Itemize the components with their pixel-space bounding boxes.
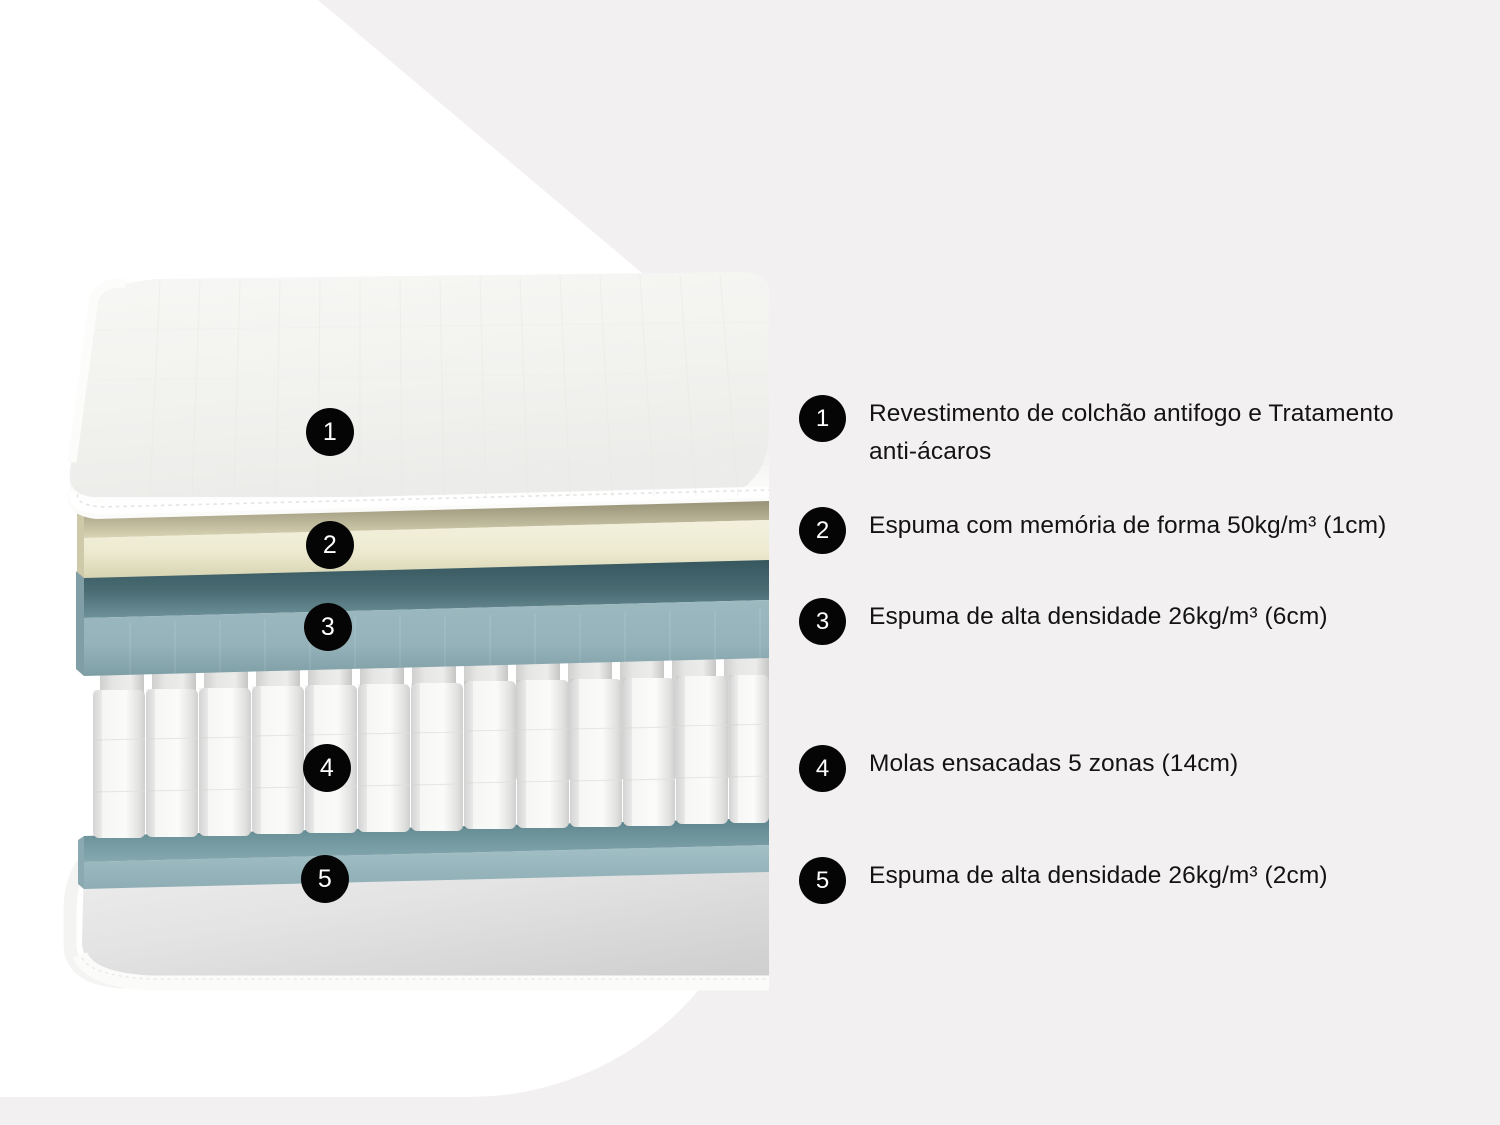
legend-badge-2: 2: [799, 507, 846, 554]
badge-number: 4: [320, 756, 334, 781]
legend-badge-1: 1: [799, 395, 846, 442]
illustration-badge-4: 4: [303, 744, 351, 792]
legend-label-2: Espuma com memória de forma 50kg/m³ (1cm…: [869, 507, 1386, 545]
layer-1-cover: [68, 272, 769, 519]
legend-item-4: 4 Molas ensacadas 5 zonas (14cm): [799, 745, 1238, 792]
legend-item-1: 1 Revestimento de colchão antifogo e Tra…: [799, 395, 1429, 471]
spring-row-front: [93, 675, 769, 838]
layer-4-pocket-springs: [93, 650, 769, 838]
legend-label-4: Molas ensacadas 5 zonas (14cm): [869, 745, 1238, 783]
badge-number: 3: [321, 615, 335, 640]
illustration-badge-2: 2: [306, 521, 354, 569]
legend-item-5: 5 Espuma de alta densidade 26kg/m³ (2cm): [799, 857, 1328, 904]
illustration-badge-1: 1: [306, 408, 354, 456]
product-layer-diagram: 1 2 3 4 5 1 Revestimento de colchão anti…: [0, 0, 1500, 1125]
legend-badge-5: 5: [799, 857, 846, 904]
legend-badge-4: 4: [799, 745, 846, 792]
illustration-badge-5: 5: [301, 855, 349, 903]
legend-badge-number: 1: [816, 407, 829, 431]
mattress-illustration: 1 2 3 4 5: [0, 0, 769, 1100]
legend-item-3: 3 Espuma de alta densidade 26kg/m³ (6cm): [799, 598, 1328, 645]
badge-number: 5: [318, 867, 332, 892]
legend-label-3: Espuma de alta densidade 26kg/m³ (6cm): [869, 598, 1328, 636]
legend-label-5: Espuma de alta densidade 26kg/m³ (2cm): [869, 857, 1328, 895]
legend-label-1: Revestimento de colchão antifogo e Trata…: [869, 395, 1429, 471]
legend-badge-number: 2: [816, 519, 829, 543]
illustration-badge-3: 3: [304, 603, 352, 651]
badge-number: 2: [323, 533, 337, 558]
legend-badge-number: 5: [816, 869, 829, 893]
legend-badge-number: 3: [816, 610, 829, 634]
badge-number: 1: [323, 420, 337, 445]
mattress-cross-section-graphic: [0, 0, 769, 1100]
legend-badge-3: 3: [799, 598, 846, 645]
legend-item-2: 2 Espuma com memória de forma 50kg/m³ (1…: [799, 507, 1386, 554]
legend-badge-number: 4: [816, 757, 829, 781]
